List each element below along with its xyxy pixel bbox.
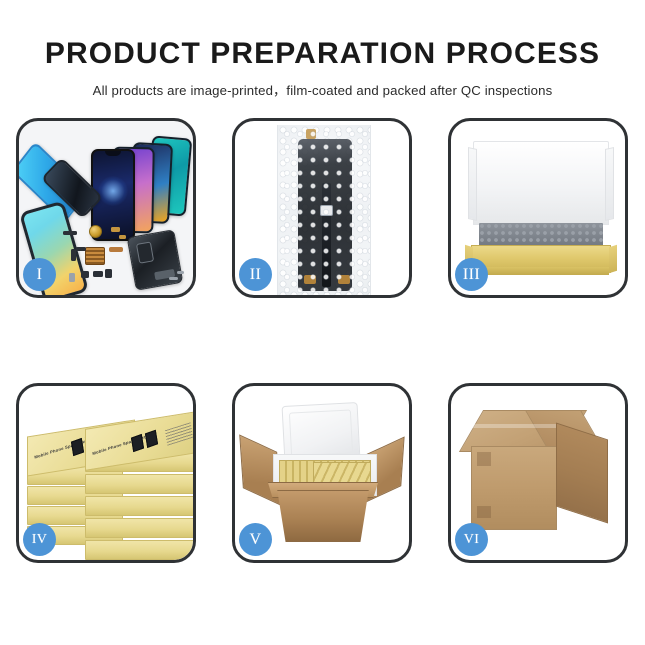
process-step-1[interactable]: I	[16, 118, 196, 298]
step-badge-6: VI	[455, 523, 488, 556]
carton-body-icon	[271, 490, 375, 542]
header: PRODUCT PREPARATION PROCESS All products…	[0, 0, 645, 99]
part-screw-2-icon	[177, 271, 184, 274]
step-badge-4: IV	[23, 523, 56, 556]
box-lid-icon	[473, 141, 609, 225]
step-badge-5: V	[239, 523, 272, 556]
gold-connector-left-icon	[304, 275, 316, 284]
carton-side-face	[556, 423, 608, 524]
page-subtitle: All products are image-printed，film-coat…	[0, 70, 645, 99]
speaker-part-icon	[89, 225, 102, 238]
product-preparation-infographic: PRODUCT PREPARATION PROCESS All products…	[0, 0, 645, 645]
yellow-box-front-icon	[473, 267, 609, 275]
part-button-icon	[69, 273, 75, 282]
step-badge-3: III	[455, 258, 488, 291]
part-module-2-icon	[105, 269, 112, 278]
process-step-grid: I II III	[16, 118, 629, 563]
stacked-box-r5	[85, 540, 193, 560]
step-badge-2: II	[239, 258, 272, 291]
process-step-3[interactable]: III	[448, 118, 628, 298]
box-label-lines-front	[165, 422, 193, 446]
process-step-4[interactable]: Mobile Phone Spare Parts Mobile Phone Sp…	[16, 383, 196, 563]
stacked-box-r3	[85, 496, 193, 516]
part-gold-clip-2-icon	[119, 235, 126, 239]
box-label-image-d	[145, 430, 158, 448]
carton-tape-lower	[477, 506, 491, 518]
part-strip-icon	[63, 231, 77, 235]
part-camera-icon	[81, 271, 89, 278]
step-badge-1: I	[23, 258, 56, 291]
connector-chip-icon	[320, 205, 333, 216]
part-screw-icon	[169, 277, 178, 280]
part-gold-clip-icon	[111, 227, 120, 232]
stacked-box-r2	[85, 474, 193, 494]
box-label-image-c	[131, 434, 144, 452]
lcd-screen-icon	[298, 139, 352, 291]
phone-teardown-icon	[127, 229, 184, 291]
lcd-tab-icon	[306, 129, 316, 139]
process-step-5[interactable]: V	[232, 383, 412, 563]
bubble-wrap-bag-icon	[277, 125, 371, 295]
carton-top-seam	[470, 424, 560, 428]
process-step-6[interactable]: VI	[448, 383, 628, 563]
gold-connector-right-icon	[338, 275, 350, 284]
box-label-image-a	[71, 438, 84, 456]
part-bracket-icon	[71, 249, 76, 261]
part-bracket-2-icon	[76, 247, 86, 251]
process-step-2[interactable]: II	[232, 118, 412, 298]
flex-cable-icon	[322, 183, 331, 287]
mesh-part-icon	[85, 247, 105, 265]
part-module-icon	[93, 271, 103, 277]
part-flex-icon	[109, 247, 123, 252]
page-title: PRODUCT PREPARATION PROCESS	[0, 0, 645, 70]
stacked-box-r4	[85, 518, 193, 538]
carton-tape-upper	[477, 452, 491, 466]
